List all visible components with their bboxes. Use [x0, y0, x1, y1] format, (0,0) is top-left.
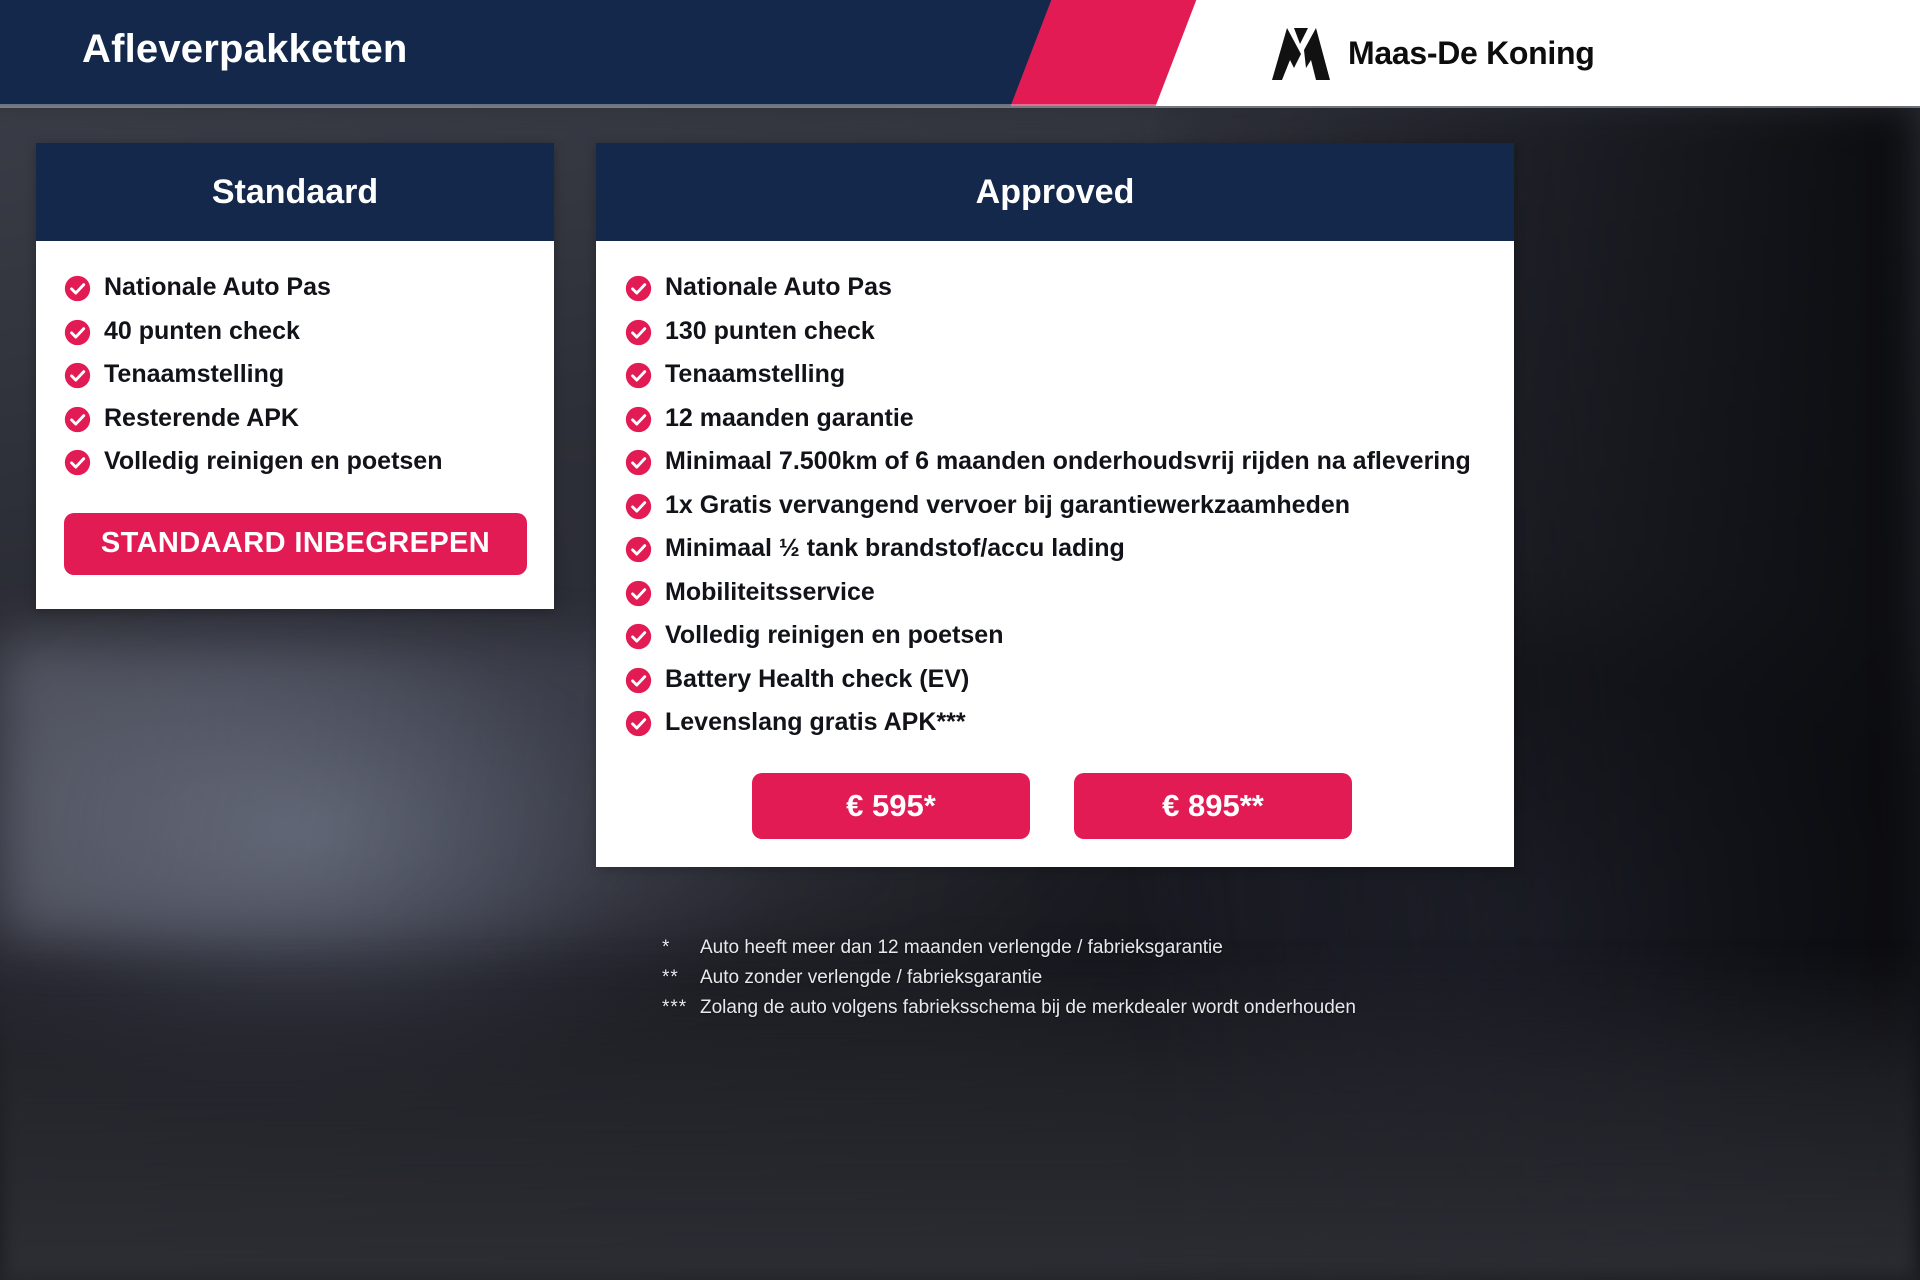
list-item: Minimaal ½ tank brandstof/accu lading — [625, 532, 1496, 565]
list-item: Volledig reinigen en poetsen — [64, 445, 540, 478]
list-item: Battery Health check (EV) — [625, 663, 1496, 696]
standaard-included-button[interactable]: STANDAARD INBEGREPEN — [64, 513, 527, 575]
footnote-item: *** Zolang de auto volgens fabrieksschem… — [662, 997, 1662, 1019]
page-header: Afleverpakketten Maas-De Koning — [0, 0, 1920, 106]
footnote-text: Zolang de auto volgens fabrieksschema bi… — [700, 997, 1662, 1019]
feature-label: Tenaamstelling — [104, 358, 284, 391]
footnote-marker: * — [662, 937, 700, 959]
check-circle-icon — [64, 406, 91, 433]
check-circle-icon — [625, 623, 652, 650]
check-circle-icon — [625, 449, 652, 476]
list-item: Minimaal 7.500km of 6 maanden onderhouds… — [625, 445, 1496, 478]
feature-label: Levenslang gratis APK*** — [665, 706, 966, 739]
footnote-list: * Auto heeft meer dan 12 maanden verleng… — [662, 937, 1662, 1027]
check-circle-icon — [625, 710, 652, 737]
list-item: Mobiliteitsservice — [625, 576, 1496, 609]
list-item: 130 punten check — [625, 315, 1496, 348]
list-item: Volledig reinigen en poetsen — [625, 619, 1496, 652]
footnote-marker: ** — [662, 967, 700, 989]
header-divider — [0, 104, 1920, 108]
feature-label: Resterende APK — [104, 402, 299, 435]
feature-label: Minimaal 7.500km of 6 maanden onderhouds… — [665, 445, 1471, 478]
check-circle-icon — [625, 319, 652, 346]
check-circle-icon — [625, 275, 652, 302]
price-button-595[interactable]: € 595* — [752, 773, 1030, 839]
list-item: Tenaamstelling — [64, 358, 540, 391]
card-body-standaard: Nationale Auto Pas 40 punten check Tenaa… — [36, 241, 554, 609]
feature-label: Mobiliteitsservice — [665, 576, 875, 609]
check-circle-icon — [64, 362, 91, 389]
feature-label: Nationale Auto Pas — [104, 271, 331, 304]
check-circle-icon — [625, 362, 652, 389]
feature-label: Nationale Auto Pas — [665, 271, 892, 304]
feature-label: Volledig reinigen en poetsen — [665, 619, 1003, 652]
check-circle-icon — [625, 580, 652, 607]
list-item: Tenaamstelling — [625, 358, 1496, 391]
list-item: Nationale Auto Pas — [64, 271, 540, 304]
list-item: 40 punten check — [64, 315, 540, 348]
list-item: Levenslang gratis APK*** — [625, 706, 1496, 739]
check-circle-icon — [625, 667, 652, 694]
list-item: 1x Gratis vervangend vervoer bij garanti… — [625, 489, 1496, 522]
brand-logo: Maas-De Koning — [1270, 24, 1595, 82]
list-item: Nationale Auto Pas — [625, 271, 1496, 304]
check-circle-icon — [625, 406, 652, 433]
slide-canvas: Afleverpakketten Maas-De Koning Standaar… — [0, 0, 1920, 1280]
footnote-item: ** Auto zonder verlengde / fabrieksgaran… — [662, 967, 1662, 989]
check-circle-icon — [625, 536, 652, 563]
feature-list-approved: Nationale Auto Pas 130 punten check Tena… — [596, 271, 1514, 739]
card-title-standaard: Standaard — [212, 173, 378, 212]
footnote-marker: *** — [662, 997, 700, 1019]
page-title: Afleverpakketten — [82, 27, 408, 72]
check-circle-icon — [625, 493, 652, 520]
feature-label: 12 maanden garantie — [665, 402, 914, 435]
feature-label: Tenaamstelling — [665, 358, 845, 391]
price-button-895[interactable]: € 895** — [1074, 773, 1352, 839]
feature-label: Minimaal ½ tank brandstof/accu lading — [665, 532, 1125, 565]
footnote-item: * Auto heeft meer dan 12 maanden verleng… — [662, 937, 1662, 959]
list-item: 12 maanden garantie — [625, 402, 1496, 435]
feature-label: 40 punten check — [104, 315, 300, 348]
card-title-approved: Approved — [976, 173, 1135, 212]
card-body-approved: Nationale Auto Pas 130 punten check Tena… — [596, 241, 1514, 867]
footnote-text: Auto heeft meer dan 12 maanden verlengde… — [700, 937, 1662, 959]
feature-label: 130 punten check — [665, 315, 875, 348]
package-card-approved: Approved Nationale Auto Pas 130 punten c — [596, 143, 1514, 867]
check-circle-icon — [64, 319, 91, 346]
check-circle-icon — [64, 449, 91, 476]
feature-list-standaard: Nationale Auto Pas 40 punten check Tenaa… — [36, 271, 554, 478]
price-button-row: € 595* € 895** — [596, 773, 1514, 839]
card-header-standaard: Standaard — [36, 143, 554, 241]
check-circle-icon — [64, 275, 91, 302]
card-header-approved: Approved — [596, 143, 1514, 241]
list-item: Resterende APK — [64, 402, 540, 435]
feature-label: Battery Health check (EV) — [665, 663, 969, 696]
brand-name: Maas-De Koning — [1348, 35, 1595, 72]
package-card-standaard: Standaard Nationale Auto Pas 40 punten c — [36, 143, 554, 609]
footnote-text: Auto zonder verlengde / fabrieksgarantie — [700, 967, 1662, 989]
maas-de-koning-m-mark-icon — [1270, 24, 1332, 82]
feature-label: 1x Gratis vervangend vervoer bij garanti… — [665, 489, 1350, 522]
feature-label: Volledig reinigen en poetsen — [104, 445, 442, 478]
